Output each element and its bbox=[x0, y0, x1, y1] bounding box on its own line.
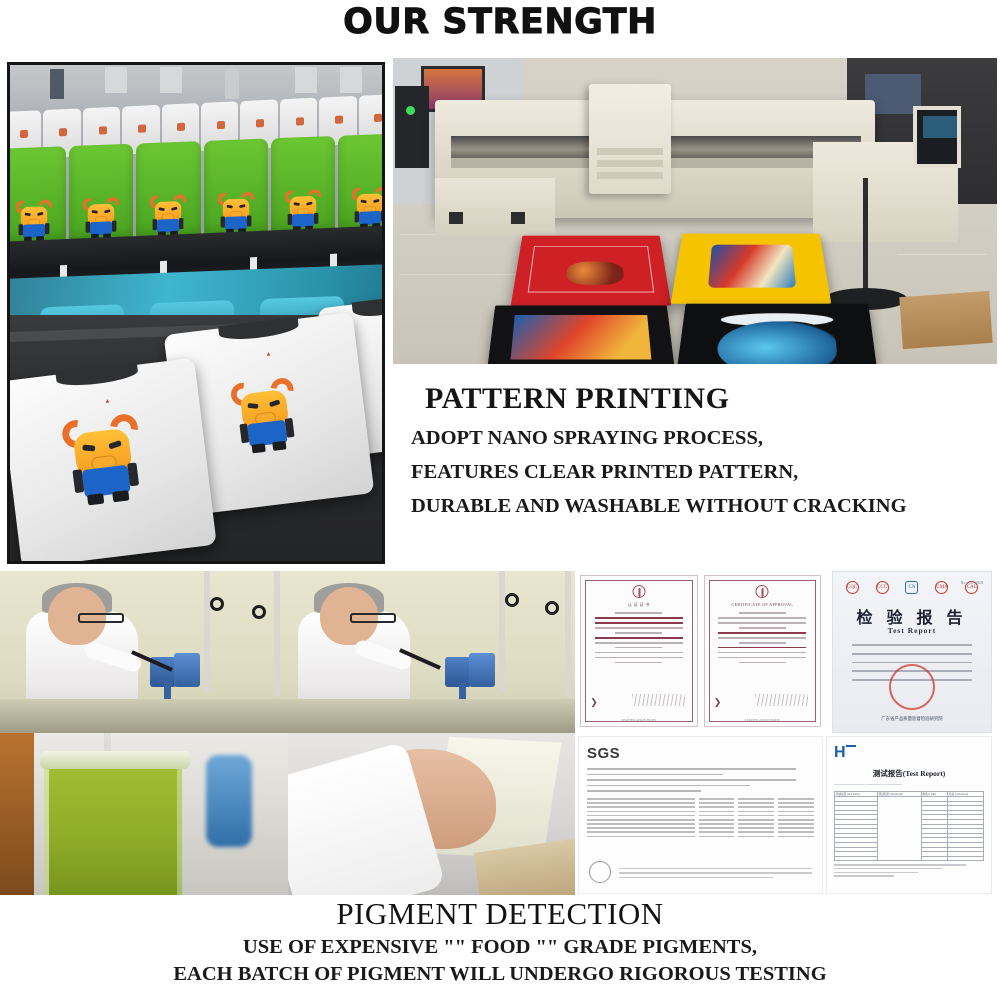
certificate-left-title: 认 证 证 书 bbox=[581, 602, 697, 608]
pigment-detection-text-block: PIGMENT DETECTION USE OF EXPENSIVE "" FO… bbox=[0, 896, 1000, 986]
floor-stand bbox=[863, 178, 868, 298]
bull-mascot-icon bbox=[352, 187, 382, 229]
cqc-logo-icon: CQC bbox=[846, 581, 859, 594]
cma-logo-icon: CMA bbox=[935, 581, 948, 594]
pattern-printing-line-2: FEATURES CLEAR PRINTED PATTERN, bbox=[393, 461, 1000, 484]
bull-mascot-icon bbox=[83, 197, 119, 239]
printer-lcd-panel[interactable] bbox=[913, 106, 961, 168]
certificate-left: 认 证 证 书 ❯ CERTIFICATION BODY bbox=[580, 575, 698, 727]
pattern-printing-line-1: ADOPT NANO SPRAYING PROCESS, bbox=[393, 427, 1000, 450]
h-report-table: 测试项目 (Test Items) 测试结果 (Test Result) 限值 … bbox=[834, 791, 984, 861]
photo-green-pigment-beaker bbox=[0, 733, 288, 895]
white-shirt-platen: ▲ bbox=[10, 358, 217, 561]
test-report-cn-title: 检 验 报 告 bbox=[833, 604, 991, 628]
bull-mascot-icon bbox=[230, 376, 301, 453]
platen-junior-company-garment: COMPANYJUNIOR bbox=[482, 306, 680, 364]
bull-mascot-icon bbox=[16, 200, 52, 242]
ccc-logo-icon: CCC bbox=[876, 581, 889, 594]
platen-sharks-garment: SHARKS bbox=[671, 304, 882, 364]
platen-yellow-garment bbox=[671, 234, 832, 304]
h-report-title: 测试报告(Test Report) bbox=[834, 768, 984, 779]
printer-left-cabinet bbox=[435, 178, 555, 236]
conveyor-scene: ▲ ▲ bbox=[10, 65, 382, 561]
certificate-left-footer: CERTIFICATION BODY bbox=[581, 718, 697, 722]
photo-dtg-printer: COMPANYJUNIOR SHARKS bbox=[393, 58, 997, 364]
photo-conveyor-line: ▲ ▲ bbox=[7, 62, 385, 564]
qr-mark-icon: ❯ bbox=[714, 697, 722, 708]
beaker-scene bbox=[0, 733, 288, 895]
bull-mascot-icon bbox=[217, 192, 253, 234]
print-head-carriage bbox=[589, 84, 671, 194]
cardboard-box bbox=[899, 291, 992, 349]
printer-scene: COMPANYJUNIOR SHARKS bbox=[393, 58, 997, 364]
photo-certificate-pair: 认 证 证 书 ❯ CERTIFICATION BODY CERTIFICATE… bbox=[578, 571, 823, 731]
photo-lab-technician-a bbox=[0, 571, 288, 733]
cnas-logo-icon: CN bbox=[905, 581, 918, 594]
h-report-document: H 测试报告(Test Report) ──────────── ───────… bbox=[826, 736, 992, 894]
page-root: OUR STRENGTH bbox=[0, 0, 1000, 1000]
pattern-printing-text-block: PATTERN PRINTING ADOPT NANO SPRAYING PRO… bbox=[393, 382, 1000, 518]
lab-scene bbox=[0, 571, 288, 733]
sgs-seal-icon bbox=[589, 861, 611, 883]
lab-scene bbox=[288, 571, 575, 733]
power-led-icon bbox=[406, 106, 415, 115]
page-title: OUR STRENGTH bbox=[0, 2, 1000, 42]
signature-mark bbox=[632, 694, 685, 706]
photo-test-report-cn: No.: CL-2020 CQC CCC CN CMA CAL 检 验 报 告 … bbox=[832, 571, 992, 733]
sgs-logo: SGS bbox=[587, 745, 814, 762]
test-report-en-title: Test Report bbox=[833, 626, 991, 635]
bull-mascot-icon bbox=[150, 195, 186, 237]
cal-logo-icon: CAL bbox=[965, 581, 978, 594]
qr-mark-icon: ❯ bbox=[590, 697, 598, 708]
test-report-footer: 广东省产品质量监督检验研究院 bbox=[833, 716, 991, 722]
photo-h-test-report: H 测试报告(Test Report) ──────────── ───────… bbox=[826, 736, 992, 894]
certificate-right-footer: CERTIFICATION BODY bbox=[705, 718, 821, 722]
h-logo: H bbox=[834, 744, 846, 761]
paper-scene bbox=[288, 733, 575, 895]
certificate-right: CERTIFICATE OF APPROVAL ❯ CERTIFICATION … bbox=[704, 575, 822, 727]
sgs-document: SGS bbox=[578, 736, 823, 894]
photo-hand-holding-test-paper bbox=[288, 733, 575, 895]
signature-mark bbox=[755, 694, 808, 706]
bull-mascot-icon bbox=[61, 412, 147, 506]
photo-sgs-test-report: SGS bbox=[578, 736, 823, 894]
pigment-detection-line-1: USE OF EXPENSIVE "" FOOD "" GRADE PIGMEN… bbox=[0, 936, 1000, 959]
seal-icon bbox=[632, 585, 645, 598]
pattern-printing-heading: PATTERN PRINTING bbox=[393, 382, 1000, 416]
pattern-printing-line-3: DURABLE AND WASHABLE WITHOUT CRACKING bbox=[393, 495, 1000, 518]
platen-red-garment bbox=[511, 236, 672, 306]
seal-icon bbox=[756, 585, 769, 598]
certificate-right-title: CERTIFICATE OF APPROVAL bbox=[705, 602, 821, 607]
pigment-detection-heading: PIGMENT DETECTION bbox=[0, 896, 1000, 932]
bull-mascot-icon bbox=[285, 190, 321, 232]
test-report-cn-document: No.: CL-2020 CQC CCC CN CMA CAL 检 验 报 告 … bbox=[832, 571, 992, 733]
pigment-detection-line-2: EACH BATCH OF PIGMENT WILL UNDERGO RIGOR… bbox=[0, 963, 1000, 986]
printer-control-box bbox=[395, 86, 429, 168]
photo-lab-technician-b bbox=[288, 571, 575, 733]
foreground-platen-table: ▲ ▲ bbox=[10, 315, 382, 561]
